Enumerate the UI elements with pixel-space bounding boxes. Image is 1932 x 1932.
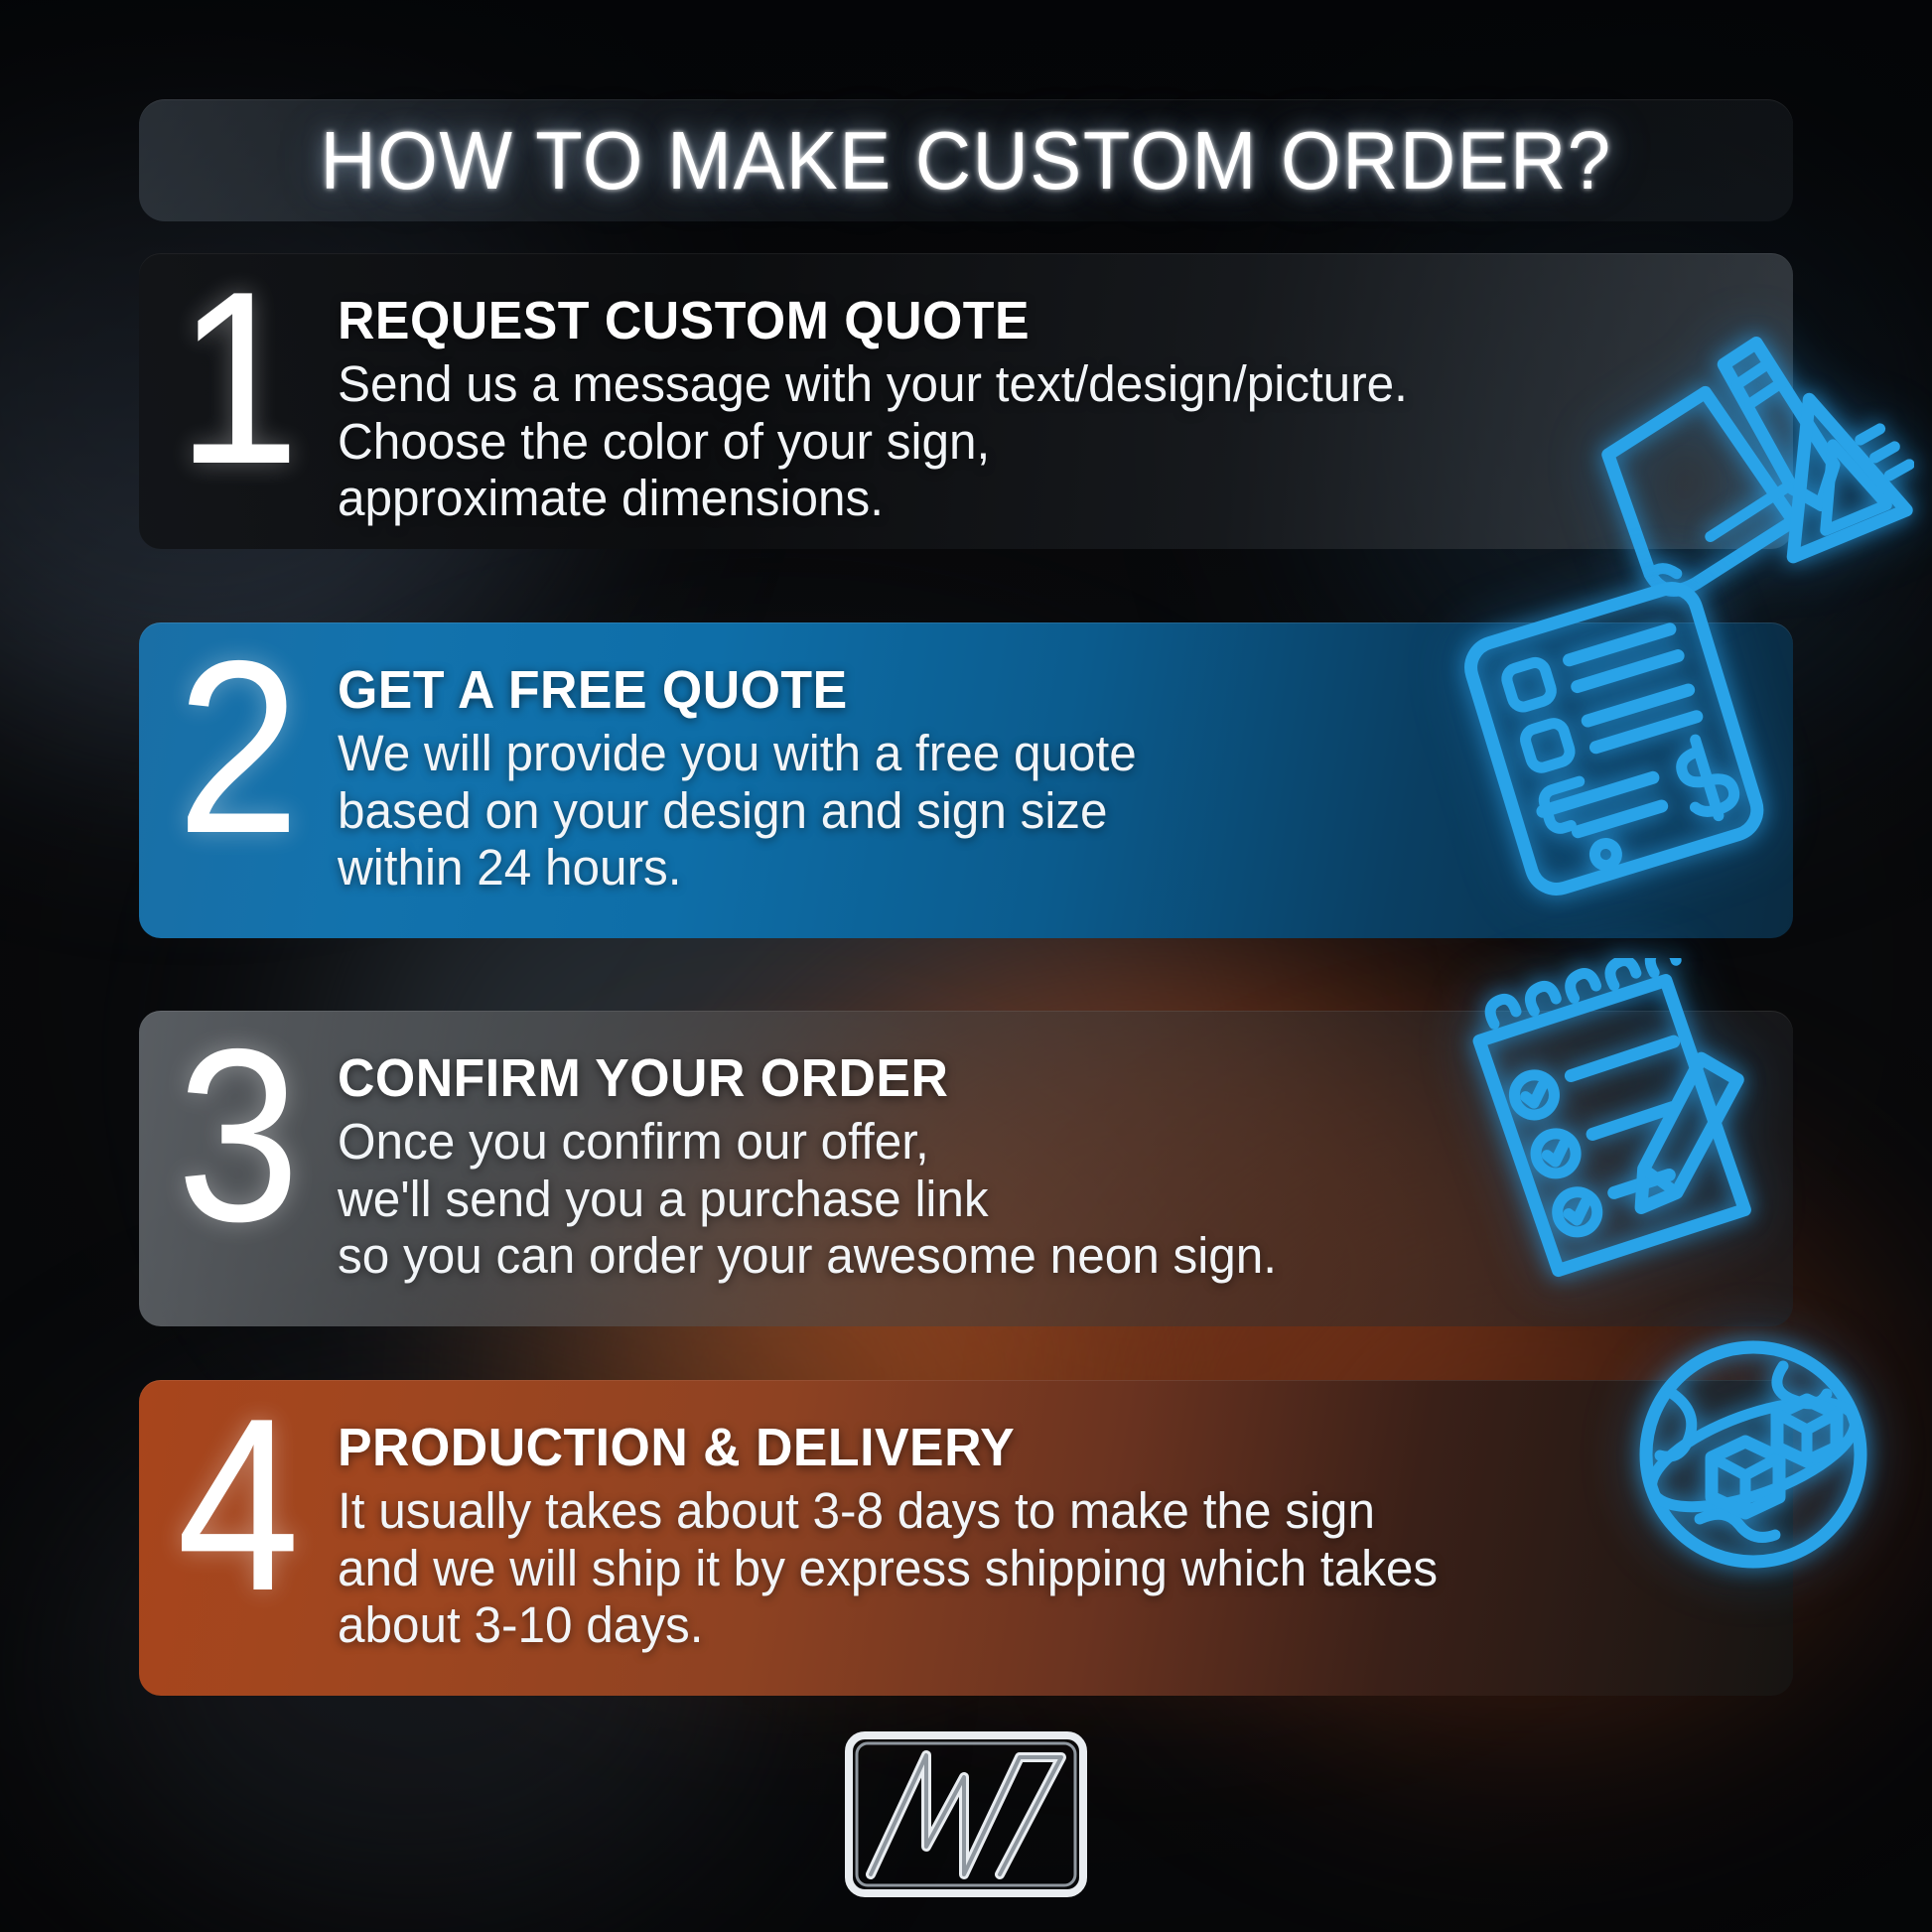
step-body-2: GET A FREE QUOTE We will provide you wit… (338, 644, 1793, 897)
step-body-1: REQUEST CUSTOM QUOTE Send us a message w… (338, 275, 1793, 527)
step-card-4: 4 PRODUCTION & DELIVERY It usually takes… (139, 1380, 1793, 1696)
step-line: based on your design and sign size (338, 782, 1730, 840)
ln-monogram-logo (841, 1727, 1091, 1901)
infographic-page: HOW TO MAKE CUSTOM ORDER? 1 REQUEST CUST… (0, 0, 1932, 1932)
step-number-2: 2 (149, 638, 328, 855)
step-line: Once you confirm our offer, (338, 1113, 1730, 1171)
step-line: Send us a message with your text/design/… (338, 355, 1730, 413)
step-line: We will provide you with a free quote (338, 725, 1730, 782)
step-title-3: CONFIRM YOUR ORDER (338, 1050, 1716, 1107)
step-line: about 3-10 days. (338, 1596, 1730, 1654)
step-line: within 24 hours. (338, 839, 1730, 897)
step-line: and we will ship it by express shipping … (338, 1540, 1730, 1597)
step-line: It usually takes about 3-8 days to make … (338, 1482, 1730, 1540)
step-title-2: GET A FREE QUOTE (338, 662, 1716, 719)
step-body-3: CONFIRM YOUR ORDER Once you confirm our … (338, 1033, 1793, 1285)
step-body-4: PRODUCTION & DELIVERY It usually takes a… (338, 1402, 1793, 1654)
step-card-2: 2 GET A FREE QUOTE We will provide you w… (139, 622, 1793, 938)
step-title-1: REQUEST CUSTOM QUOTE (338, 293, 1716, 349)
step-card-1: 1 REQUEST CUSTOM QUOTE Send us a message… (139, 253, 1793, 549)
page-title-bar: HOW TO MAKE CUSTOM ORDER? (139, 99, 1793, 221)
step-line: approximate dimensions. (338, 470, 1730, 527)
step-line: we'll send you a purchase link (338, 1171, 1730, 1228)
page-title: HOW TO MAKE CUSTOM ORDER? (320, 119, 1611, 202)
step-number-4: 4 (149, 1396, 328, 1612)
step-card-3: 3 CONFIRM YOUR ORDER Once you confirm ou… (139, 1011, 1793, 1326)
step-number-1: 1 (149, 269, 328, 485)
step-line: so you can order your awesome neon sign. (338, 1227, 1730, 1285)
step-number-3: 3 (149, 1027, 328, 1243)
step-title-4: PRODUCTION & DELIVERY (338, 1420, 1716, 1476)
step-line: Choose the color of your sign, (338, 413, 1730, 471)
